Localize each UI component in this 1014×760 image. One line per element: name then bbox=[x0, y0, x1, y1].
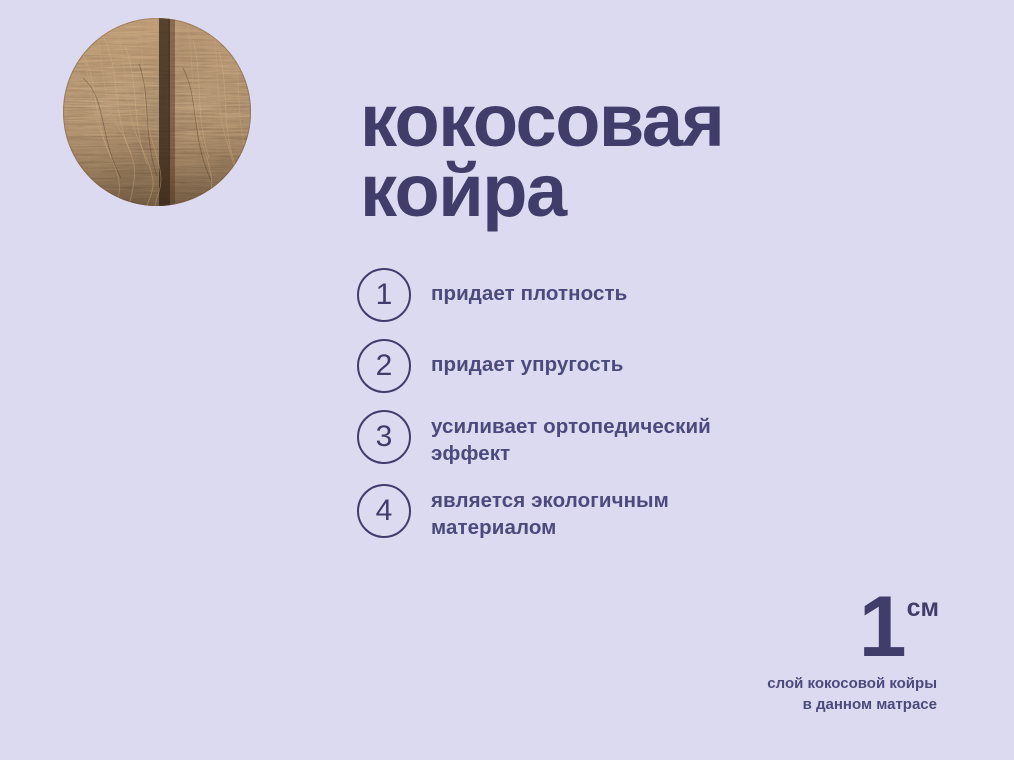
feature-number: 4 bbox=[376, 496, 393, 526]
feature-text-line-1: усиливает ортопедический bbox=[431, 413, 711, 440]
thickness-value-group: 1см bbox=[767, 592, 937, 663]
feature-text: усиливает ортопедический эффект bbox=[411, 410, 711, 468]
feature-text-line-2: материалом bbox=[431, 514, 669, 541]
list-item: 3 усиливает ортопедический эффект bbox=[357, 410, 827, 468]
list-item: 4 является экологичным материалом bbox=[357, 484, 827, 542]
thickness-caption-line-2: в данном матрасе bbox=[767, 694, 937, 715]
feature-list: 1 придает плотность 2 придает упругость … bbox=[357, 268, 827, 557]
thickness-callout: 1см слой кокосовой койры в данном матрас… bbox=[767, 592, 937, 715]
coconut-coir-photo bbox=[63, 18, 251, 206]
feature-text-line-1: является экологичным bbox=[431, 487, 669, 514]
feature-number-badge: 1 bbox=[357, 268, 411, 322]
slide-root: кокосовая койра 1 придает плотность 2 пр… bbox=[0, 0, 1014, 760]
feature-text: является экологичным материалом bbox=[411, 484, 669, 542]
feature-number: 1 bbox=[376, 280, 393, 310]
feature-number-badge: 3 bbox=[357, 410, 411, 464]
feature-number: 2 bbox=[376, 351, 393, 381]
feature-text-line-1: придает упругость bbox=[431, 353, 624, 376]
feature-text-line-1: придает плотность bbox=[431, 282, 627, 305]
page-title-line-1: кокосовая bbox=[360, 86, 960, 156]
feature-text: придает плотность bbox=[411, 268, 627, 307]
feature-text: придает упругость bbox=[411, 339, 624, 378]
list-item: 1 придает плотность bbox=[357, 268, 827, 322]
feature-number-badge: 4 bbox=[357, 484, 411, 538]
feature-number: 3 bbox=[376, 422, 393, 452]
thickness-value: 1 bbox=[859, 579, 905, 675]
page-title-line-2: койра bbox=[360, 156, 960, 226]
feature-text-line-2: эффект bbox=[431, 440, 711, 467]
thickness-unit: см bbox=[907, 594, 939, 622]
feature-number-badge: 2 bbox=[357, 339, 411, 393]
page-title: кокосовая койра bbox=[360, 86, 960, 227]
thickness-caption: слой кокосовой койры в данном матрасе bbox=[767, 673, 937, 716]
list-item: 2 придает упругость bbox=[357, 339, 827, 393]
thickness-caption-line-1: слой кокосовой койры bbox=[767, 673, 937, 694]
